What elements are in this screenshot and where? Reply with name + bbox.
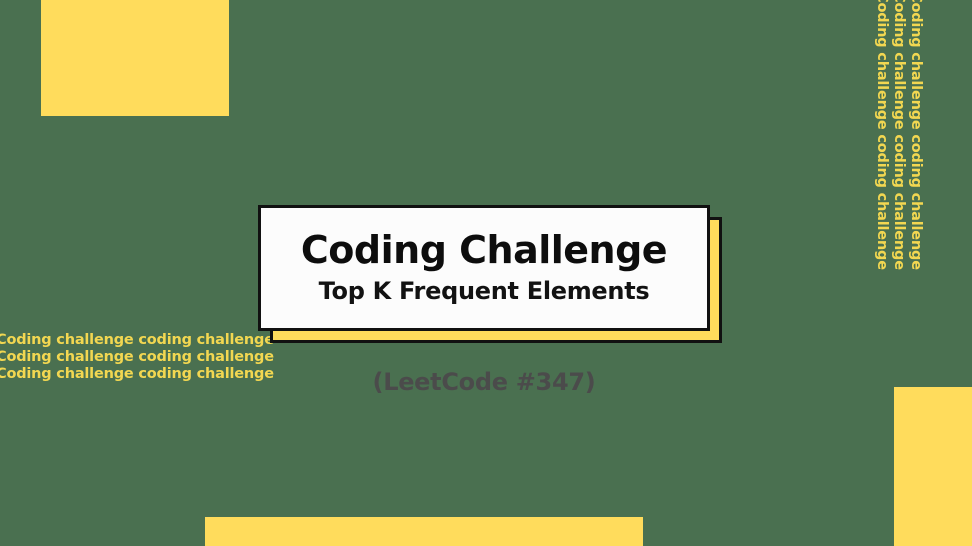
page-subtitle: Top K Frequent Elements xyxy=(319,278,650,304)
decorative-text-left-line: Coding challenge coding challenge xyxy=(0,332,274,349)
decorative-text-right-line: Coding challenge coding challenge xyxy=(873,0,890,270)
decorative-block-bottom-bar xyxy=(205,517,643,546)
decorative-block-top-left xyxy=(41,0,229,116)
decorative-text-right-line: Coding challenge coding challenge xyxy=(907,0,924,270)
source-caption: (LeetCode #347) xyxy=(0,368,968,396)
decorative-text-left-line: Coding challenge coding challenge xyxy=(0,349,274,366)
title-card: Coding Challenge Top K Frequent Elements xyxy=(258,205,710,331)
page-title: Coding Challenge xyxy=(301,231,667,271)
title-card-group: Coding Challenge Top K Frequent Elements xyxy=(258,205,710,331)
decorative-text-right: Coding challenge coding challenge Coding… xyxy=(862,0,922,252)
decorative-text-right-line: Coding challenge coding challenge xyxy=(890,0,907,270)
decorative-block-bottom-right xyxy=(894,387,972,546)
slide-canvas: Coding challenge coding challenge Coding… xyxy=(0,0,972,546)
